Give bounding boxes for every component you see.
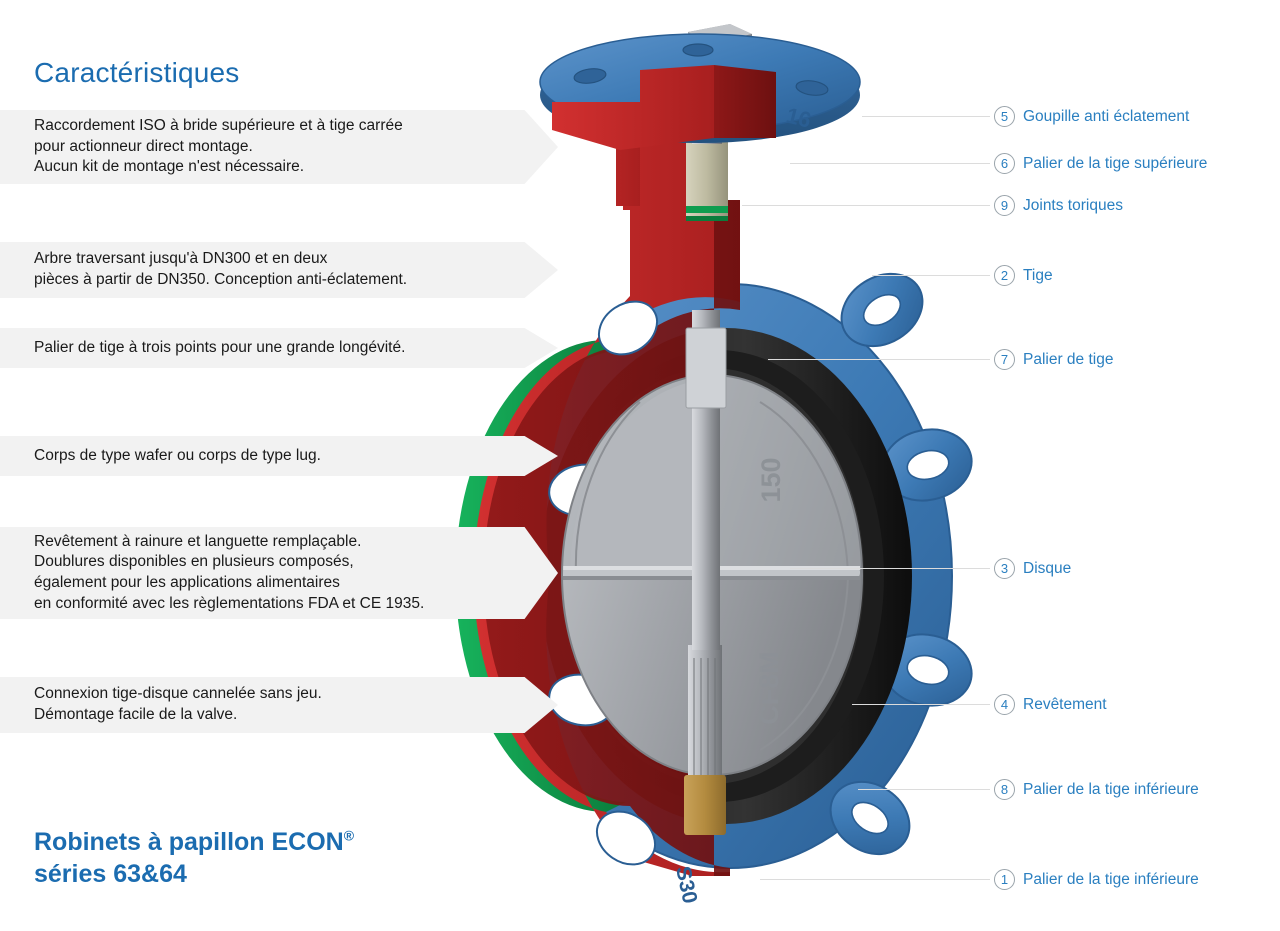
- callout-number: 5: [994, 106, 1015, 127]
- callout-number: 4: [994, 694, 1015, 715]
- feature-callout: Palier de tige à trois points pour une g…: [0, 328, 470, 368]
- callout-label: Palier de la tige supérieure: [1023, 155, 1207, 173]
- callout-label: Disque: [1023, 560, 1071, 578]
- callout-label: Goupille anti éclatement: [1023, 108, 1189, 126]
- callout-label: Palier de tige: [1023, 351, 1113, 369]
- callout-leader-line: [858, 789, 990, 790]
- callout-number: 2: [994, 265, 1015, 286]
- feature-callout: Arbre traversant jusqu'à DN300 et en deu…: [0, 242, 470, 298]
- feature-callout: Revêtement à rainure et languette rempla…: [0, 527, 470, 619]
- feature-text: Corps de type wafer ou corps de type lug…: [0, 446, 321, 467]
- lower-stem-bearing-bronze: [684, 775, 726, 835]
- callout-number: 8: [994, 779, 1015, 800]
- callout-label: Palier de la tige inférieure: [1023, 781, 1199, 799]
- feature-callout: Connexion tige-disque cannelée sans jeu.…: [0, 677, 470, 733]
- o-ring-upper: [686, 206, 728, 213]
- callout-leader-line: [742, 205, 990, 206]
- feature-text: Raccordement ISO à bride supérieure et à…: [0, 116, 403, 178]
- callout-leader-line: [768, 359, 990, 360]
- callout-number: 3: [994, 558, 1015, 579]
- feature-text: Palier de tige à trois points pour une g…: [0, 338, 405, 359]
- product-title-line1: Robinets à papillon ECON: [34, 828, 344, 856]
- callout-label: Revêtement: [1023, 696, 1107, 714]
- diagram-canvas: 150 CF8M: [0, 0, 1280, 931]
- callout-5: 5 Goupille anti éclatement: [994, 106, 1189, 127]
- callout-number: 6: [994, 153, 1015, 174]
- o-ring-lower: [686, 216, 728, 221]
- callout-9: 9 Joints toriques: [994, 195, 1123, 216]
- callout-leader-line: [852, 704, 990, 705]
- callout-leader-line: [862, 116, 990, 117]
- callout-leader-line: [872, 275, 990, 276]
- callout-1: 1 Palier de la tige inférieure: [994, 869, 1199, 890]
- callout-4: 4 Revêtement: [994, 694, 1107, 715]
- page-title: Caractéristiques: [34, 57, 240, 89]
- callout-6: 6 Palier de la tige supérieure: [994, 153, 1207, 174]
- callout-3: 3 Disque: [994, 558, 1071, 579]
- callout-number: 7: [994, 349, 1015, 370]
- feature-text: Revêtement à rainure et languette rempla…: [0, 532, 424, 614]
- callout-8: 8 Palier de la tige inférieure: [994, 779, 1199, 800]
- callout-label: Palier de la tige inférieure: [1023, 871, 1199, 889]
- callout-label: Joints toriques: [1023, 197, 1123, 215]
- feature-text: Arbre traversant jusqu'à DN300 et en deu…: [0, 249, 407, 290]
- callout-2: 2 Tige: [994, 265, 1053, 286]
- product-title-line2: séries 63&64: [34, 860, 187, 888]
- feature-text: Connexion tige-disque cannelée sans jeu.…: [0, 684, 322, 725]
- disc-marking-pressure-class: 150: [756, 457, 786, 502]
- feature-callout: Raccordement ISO à bride supérieure et à…: [0, 110, 470, 184]
- callout-7: 7 Palier de tige: [994, 349, 1113, 370]
- product-title: Robinets à papillon ECON® séries 63&64: [34, 826, 464, 890]
- callout-leader-line: [790, 568, 990, 569]
- callout-number: 1: [994, 869, 1015, 890]
- feature-callout: Corps de type wafer ou corps de type lug…: [0, 436, 470, 476]
- callout-leader-line: [760, 879, 990, 880]
- callout-number: 9: [994, 195, 1015, 216]
- callout-leader-line: [790, 163, 990, 164]
- disc-marking-material: CF8M: [754, 651, 784, 725]
- callout-label: Tige: [1023, 267, 1053, 285]
- registered-mark: ®: [344, 828, 354, 844]
- iso-top-flange: 16: [540, 34, 860, 150]
